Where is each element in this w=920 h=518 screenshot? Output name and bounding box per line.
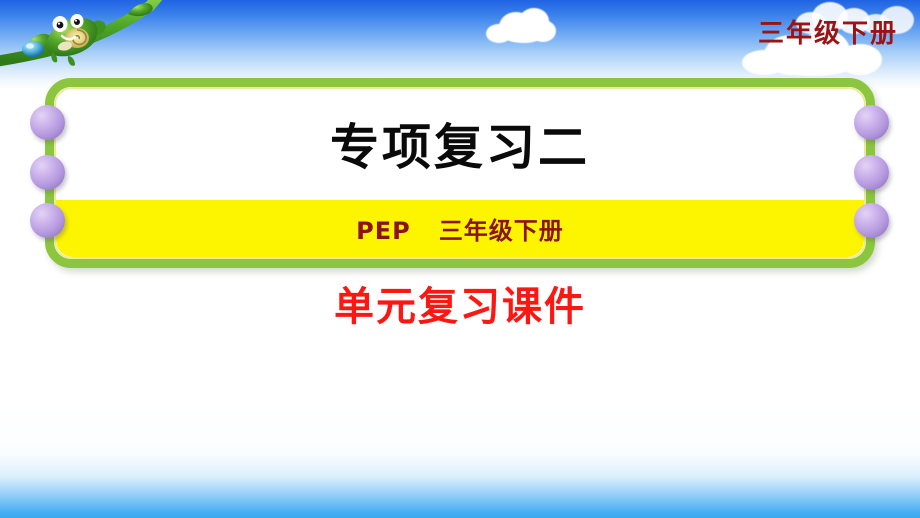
- bead-left-middle: [30, 155, 65, 190]
- page-subtitle: 单元复习课件: [0, 287, 920, 327]
- title-frame: 专项复习二 PEP 三年级下册: [45, 78, 875, 268]
- cloud-small-left: [486, 8, 556, 42]
- subject-band: PEP 三年级下册: [56, 200, 864, 257]
- caterpillar-vine-decoration: [0, 0, 210, 72]
- slide-canvas: 三年级下册: [0, 0, 920, 518]
- bead-right-middle: [854, 155, 889, 190]
- bead-left-top: [30, 105, 65, 140]
- bead-right-bottom: [854, 203, 889, 238]
- subject-band-label: PEP 三年级下册: [356, 211, 564, 246]
- bead-right-top: [854, 105, 889, 140]
- grade-tag: 三年级下册: [758, 13, 898, 50]
- title-frame-inner: 专项复习二 PEP 三年级下册: [54, 87, 866, 259]
- ground-gradient: [0, 408, 920, 518]
- title-zone: 专项复习二: [56, 89, 864, 206]
- bead-left-bottom: [30, 203, 65, 238]
- page-title: 专项复习二: [330, 123, 590, 172]
